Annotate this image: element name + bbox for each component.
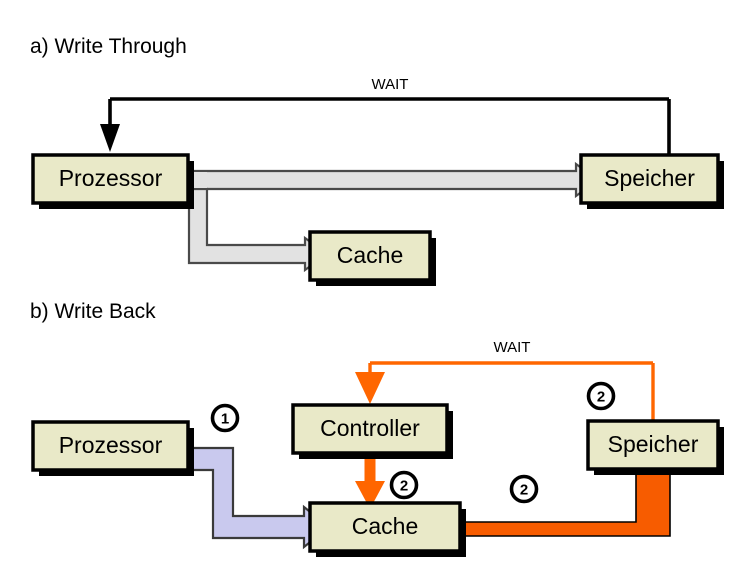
step-marker-2-controller-value: 2 bbox=[400, 478, 408, 495]
node-memory-b[interactable]: Speicher bbox=[588, 421, 724, 475]
node-processor-a-label: Prozessor bbox=[59, 165, 163, 191]
node-cache-b-label: Cache bbox=[352, 513, 418, 539]
step-marker-2-memory-value: 2 bbox=[597, 389, 605, 406]
wait-label-b: WAIT bbox=[494, 339, 531, 356]
node-memory-a-label: Speicher bbox=[604, 165, 695, 191]
section-a-heading: a) Write Through bbox=[30, 35, 187, 58]
step-marker-2-cache-value: 2 bbox=[520, 482, 528, 499]
step-marker-1-value: 1 bbox=[221, 411, 229, 428]
node-processor-b-label: Prozessor bbox=[59, 432, 163, 458]
step-marker-2-memory: 2 bbox=[589, 384, 614, 409]
step-marker-2-cache: 2 bbox=[512, 477, 537, 502]
step-marker-2-controller: 2 bbox=[392, 473, 417, 498]
step-marker-1: 1 bbox=[213, 406, 238, 431]
node-processor-a[interactable]: Prozessor bbox=[33, 155, 194, 209]
node-controller-b[interactable]: Controller bbox=[293, 405, 453, 459]
node-processor-b[interactable]: Prozessor bbox=[33, 422, 194, 476]
node-memory-a[interactable]: Speicher bbox=[581, 155, 724, 209]
section-b-heading: b) Write Back bbox=[30, 300, 156, 323]
wait-label-a: WAIT bbox=[372, 76, 409, 93]
node-cache-a-label: Cache bbox=[337, 242, 403, 268]
node-cache-b[interactable]: Cache bbox=[310, 503, 466, 557]
node-memory-b-label: Speicher bbox=[608, 431, 699, 457]
node-cache-a[interactable]: Cache bbox=[310, 232, 436, 286]
node-controller-b-label: Controller bbox=[320, 415, 420, 441]
cache-write-policy-diagram: a) Write Through WAIT Prozessor bbox=[0, 0, 751, 580]
